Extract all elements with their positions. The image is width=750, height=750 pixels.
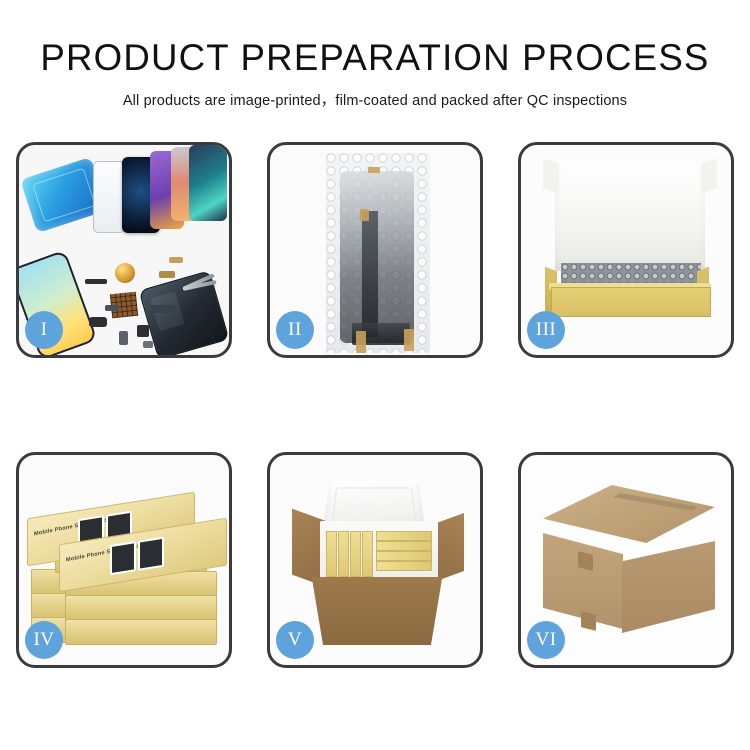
speaker-module-icon (115, 263, 135, 283)
page-title: PRODUCT PREPARATION PROCESS (4, 38, 747, 78)
component-icon (143, 341, 153, 348)
process-step-3: III (518, 142, 734, 358)
yellow-box-icon (326, 531, 337, 577)
box-label-window-icon (110, 541, 136, 575)
process-step-4: Mobile Phone Spare Parts Mobile Phone Sp… (16, 452, 232, 668)
process-grid: I II III (16, 142, 734, 668)
carton-right-face-icon (622, 541, 715, 633)
flex-cable-icon (362, 211, 378, 337)
yellow-box-front-icon (551, 287, 711, 317)
component-icon (169, 257, 183, 263)
yellow-box-icon (376, 551, 432, 561)
packed-yellow-boxes-icon (326, 531, 432, 577)
step-badge-3: III (527, 311, 565, 349)
component-icon (137, 325, 149, 337)
yellow-box-icon (376, 561, 432, 571)
teal-phone-icon (189, 145, 227, 221)
component-icon (105, 305, 119, 311)
carton-body-icon (306, 577, 448, 645)
process-step-2: II (267, 142, 483, 358)
page-header: PRODUCT PREPARATION PROCESS All products… (0, 0, 750, 110)
carton-tape-icon (578, 551, 593, 571)
step-badge-4: IV (25, 621, 63, 659)
process-step-6: VI (518, 452, 734, 668)
gold-contact-icon (368, 167, 380, 173)
component-icon (119, 331, 128, 345)
tweezers-icon (179, 273, 223, 317)
step-badge-6: VI (527, 621, 565, 659)
yellow-box-icon (376, 541, 432, 551)
step-badge-5: V (276, 621, 314, 659)
yellow-box-icon (350, 531, 361, 577)
yellow-box-icon (376, 531, 432, 541)
process-step-1: I (16, 142, 232, 358)
page-subtitle: All products are image-printed，film-coat… (0, 89, 750, 110)
stacked-box-icon (65, 619, 217, 645)
carton-tape-icon (581, 611, 596, 631)
gold-contact-icon (360, 209, 369, 221)
gold-contact-icon (404, 329, 414, 351)
component-icon (159, 271, 175, 278)
component-icon (85, 279, 107, 284)
screen-protector-icon (93, 161, 125, 233)
stacked-box-icon (65, 595, 217, 621)
bubble-wrap-bag-icon (326, 153, 430, 353)
box-label-window-icon (138, 537, 164, 571)
component-icon (151, 305, 177, 313)
yellow-box-icon (338, 531, 349, 577)
yellow-box-icon (362, 531, 373, 577)
process-step-5: V (267, 452, 483, 668)
carton-top-icon (543, 485, 715, 543)
step-badge-1: I (25, 311, 63, 349)
component-icon (89, 317, 107, 327)
step-badge-2: II (276, 311, 314, 349)
foam-lid-icon (555, 159, 705, 271)
gold-contact-icon (356, 331, 366, 353)
